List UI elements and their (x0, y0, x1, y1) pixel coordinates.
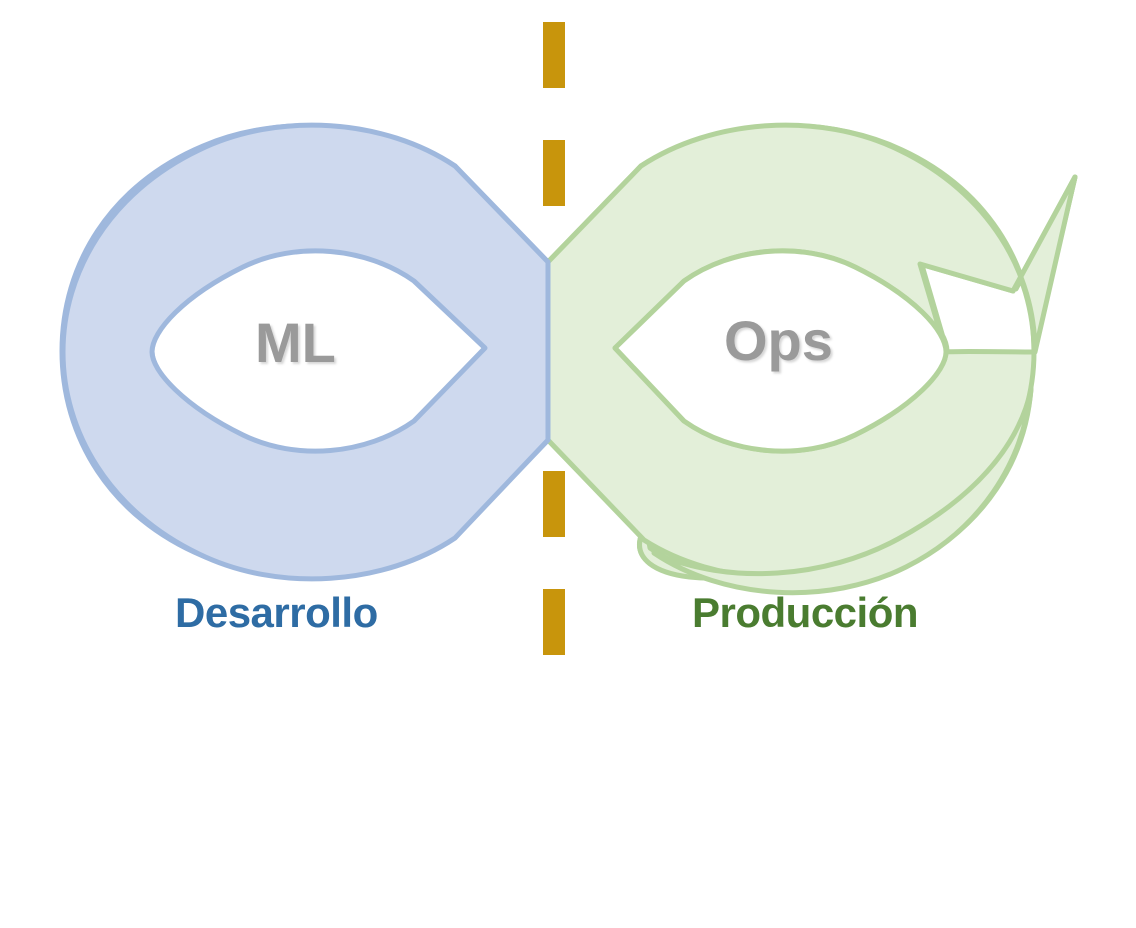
loop-graphic (0, 0, 1136, 928)
divider-dash (543, 22, 565, 88)
divider-dash (543, 140, 565, 206)
divider-dash (543, 589, 565, 655)
label-produccion: Producción (692, 592, 918, 634)
left-loop-word: ML (255, 315, 336, 371)
mlops-loop-diagram: ML Ops Desarrollo Producción (0, 0, 1136, 928)
label-desarrollo: Desarrollo (175, 592, 378, 634)
right-loop-word: Ops (724, 313, 833, 369)
divider-dash (543, 471, 565, 537)
